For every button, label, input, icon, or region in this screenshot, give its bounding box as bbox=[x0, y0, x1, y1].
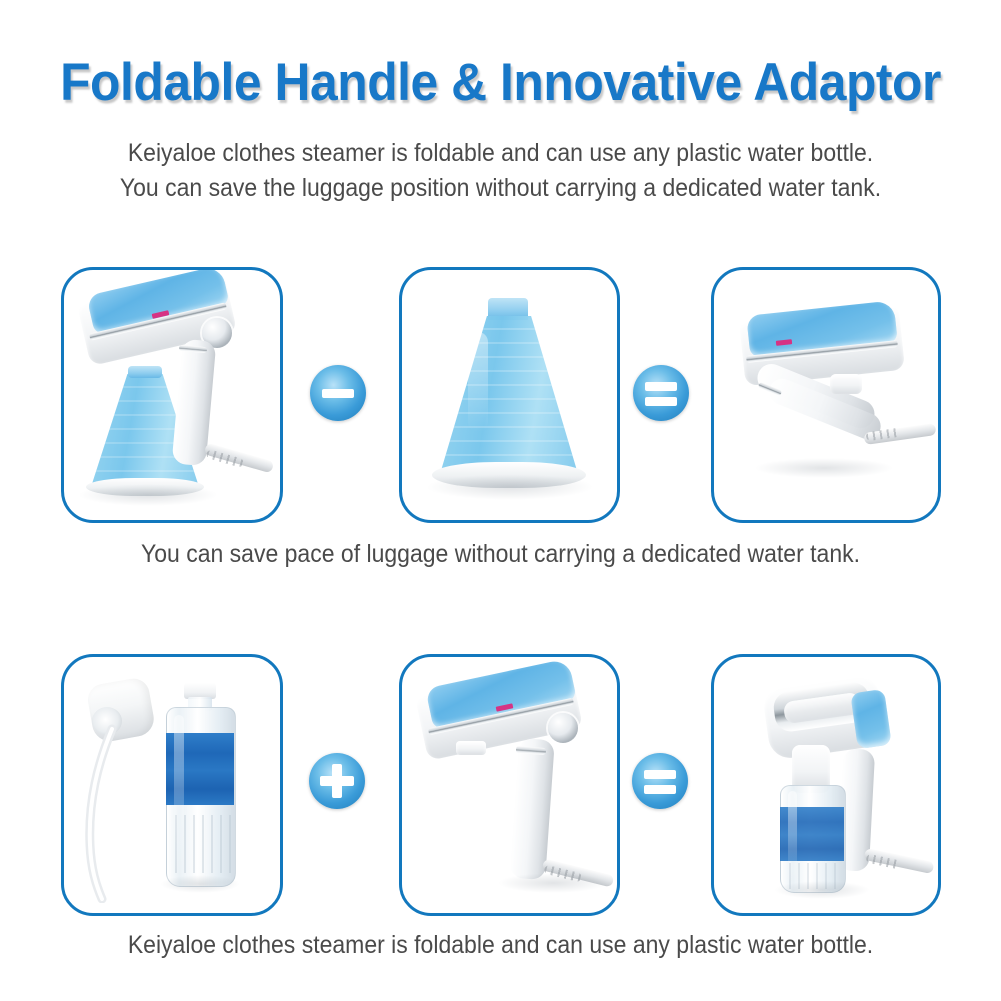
panel-steamer-body bbox=[399, 654, 620, 916]
equals-icon-bar-bottom bbox=[644, 785, 676, 794]
equals-badge bbox=[633, 365, 689, 421]
page-subtitle: Keiyaloe clothes steamer is foldable and… bbox=[40, 136, 961, 206]
caption-foldable-row: You can save pace of luggage without car… bbox=[40, 540, 961, 569]
adaptor-and-bottle-illustration bbox=[64, 657, 280, 913]
panel-steamer-with-tank bbox=[61, 267, 283, 523]
panel-water-tank bbox=[399, 267, 620, 523]
plus-badge bbox=[309, 753, 365, 809]
steamer-folded-illustration bbox=[714, 270, 938, 520]
caption-adaptor-row: Keiyaloe clothes steamer is foldable and… bbox=[40, 931, 961, 960]
plus-icon-bar-vertical bbox=[332, 764, 342, 798]
subtitle-line-2: You can save the luggage position withou… bbox=[40, 171, 961, 206]
equals-icon-bar-top bbox=[645, 382, 677, 391]
minus-badge bbox=[310, 365, 366, 421]
steamer-on-bottle-illustration bbox=[714, 657, 938, 913]
page-title: Foldable Handle & Innovative Adaptor bbox=[30, 52, 971, 113]
equals-icon-bar-bottom bbox=[645, 397, 677, 406]
panel-adaptor-and-bottle bbox=[61, 654, 283, 916]
equals-badge bbox=[632, 753, 688, 809]
steamer-body-illustration bbox=[402, 657, 617, 913]
product-feature-page: Foldable Handle & Innovative Adaptor Kei… bbox=[0, 0, 1001, 1001]
equals-icon-bar-top bbox=[644, 770, 676, 779]
panel-steamer-folded bbox=[711, 267, 941, 523]
subtitle-line-1: Keiyaloe clothes steamer is foldable and… bbox=[40, 136, 961, 171]
minus-icon bbox=[322, 389, 354, 398]
steamer-with-tank-illustration bbox=[64, 270, 280, 520]
panel-steamer-on-bottle bbox=[711, 654, 941, 916]
water-tank-illustration bbox=[402, 270, 617, 520]
